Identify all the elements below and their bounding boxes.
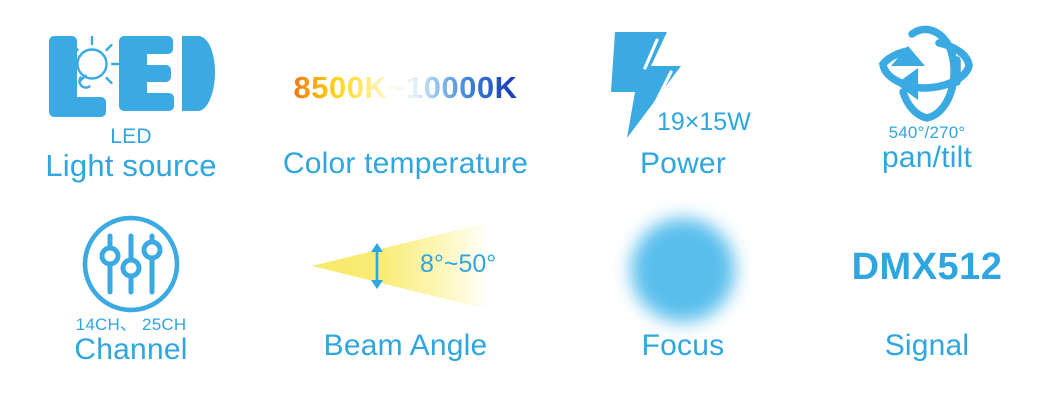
focus-caption-main: Focus <box>549 330 817 362</box>
led-fixture-spec-sheet: LED Light source 8500K~10000K Color temp… <box>0 0 1037 406</box>
pan-tilt-caption-sub: 540°/270° <box>817 124 1037 142</box>
spec-item-focus: Focus <box>549 204 817 404</box>
channel-caption-sub: 14CH、 25CH <box>0 316 262 334</box>
spec-caption-focus: Focus <box>549 330 817 362</box>
focus-spot-icon <box>631 218 735 322</box>
beam-height-arrow-icon <box>368 242 386 295</box>
beam-angle-value: 8°~50° <box>420 250 496 279</box>
spec-item-channel: 14CH、 25CH Channel <box>0 204 262 404</box>
signal-caption-main: Signal <box>817 330 1037 362</box>
led-caption-sub: LED <box>0 126 262 149</box>
power-value: 19×15W <box>657 108 751 137</box>
slider-channel-icon <box>79 212 183 321</box>
spec-caption-color-temperature: Color temperature <box>262 148 549 180</box>
pan-tilt-rotation-icon <box>865 12 989 133</box>
led-caption-main: Light source <box>0 149 262 182</box>
spec-item-power: 19×15W Power <box>549 8 817 204</box>
led-bulb-logo-icon <box>46 30 216 127</box>
color-temperature-value: 8500K~10000K <box>262 70 549 106</box>
spec-caption-led: LED Light source <box>0 126 262 182</box>
spec-caption-signal: Signal <box>817 330 1037 362</box>
spec-caption-power: Power <box>549 148 817 180</box>
spec-item-color-temperature: 8500K~10000K Color temperature <box>262 8 549 204</box>
pan-tilt-caption-main: pan/tilt <box>817 142 1037 174</box>
beam-angle-caption-main: Beam Angle <box>262 330 549 362</box>
spec-caption-beam-angle: Beam Angle <box>262 330 549 362</box>
power-caption-main: Power <box>549 148 817 180</box>
color-temperature-caption-main: Color temperature <box>262 148 549 180</box>
dmx-signal-value: DMX512 <box>817 246 1037 289</box>
spec-caption-channel: 14CH、 25CH Channel <box>0 316 262 367</box>
spec-item-pan-tilt: 540°/270° pan/tilt <box>817 8 1037 204</box>
spec-item-signal: DMX512 Signal <box>817 204 1037 404</box>
spec-caption-pan-tilt: 540°/270° pan/tilt <box>817 124 1037 175</box>
spec-item-led: LED Light source <box>0 8 262 204</box>
spec-item-beam-angle: 8°~50° Beam Angle <box>262 204 549 404</box>
channel-caption-main: Channel <box>0 334 262 366</box>
